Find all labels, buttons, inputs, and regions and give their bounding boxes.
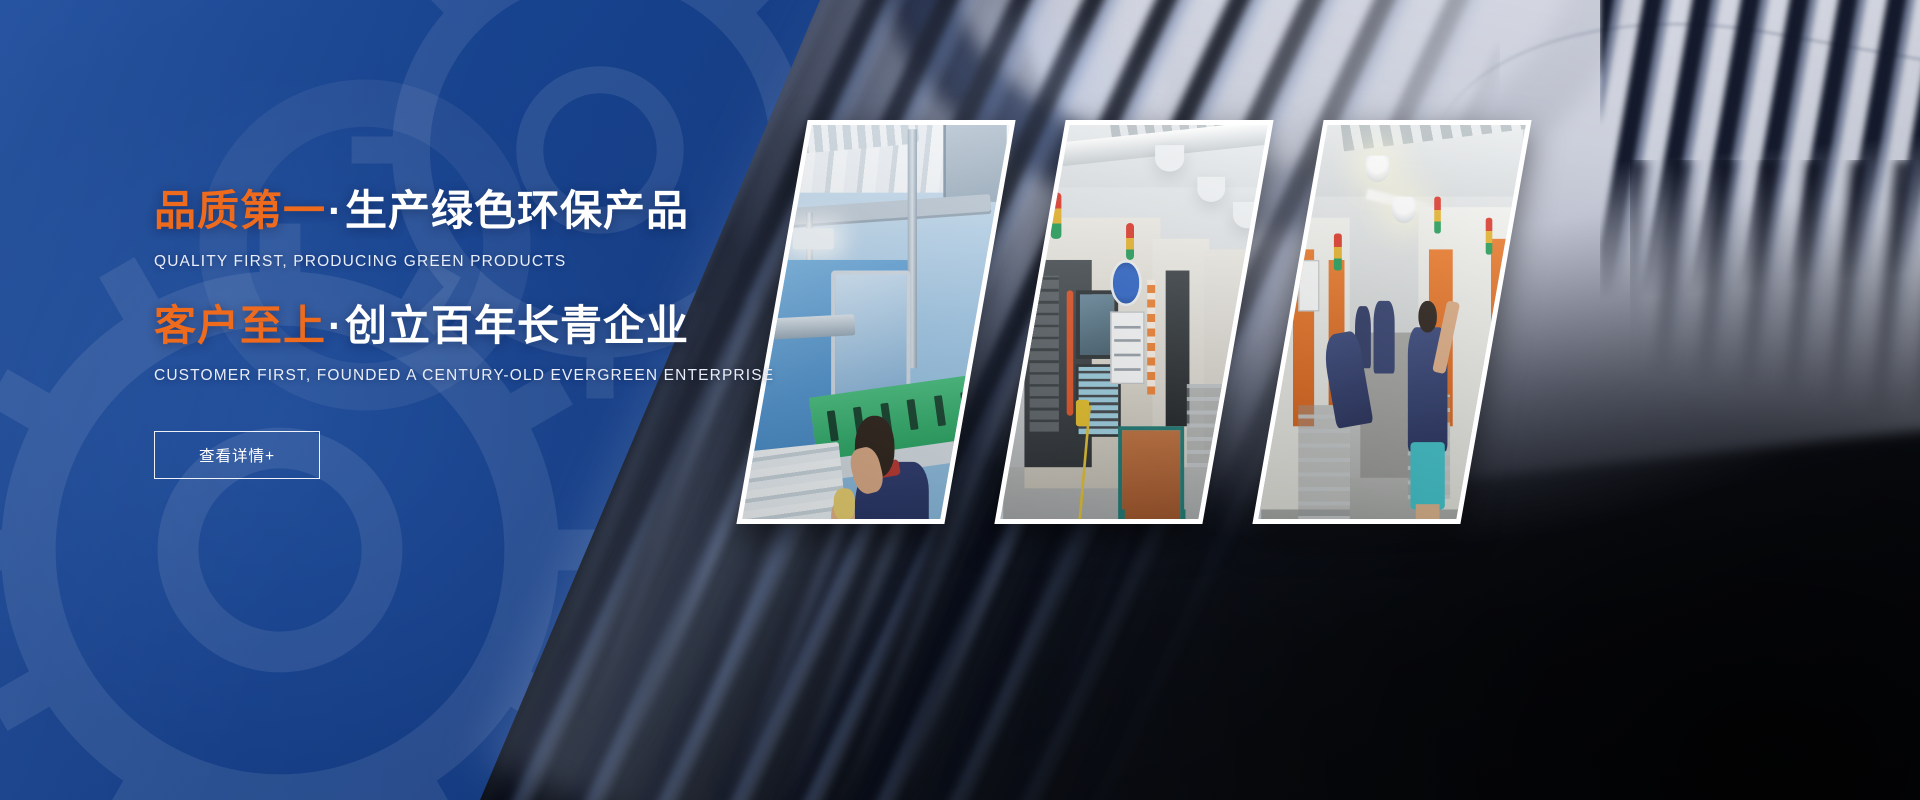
photo-panel-cnc-row[interactable]: [994, 120, 1273, 524]
photo-frame: [1258, 125, 1525, 519]
copy-spacer: [154, 271, 794, 301]
photo-frame: [1000, 125, 1267, 519]
headline-secondary-rest: 创立百年长青企业: [345, 302, 689, 349]
photo-panel-workshop-aisle[interactable]: [1252, 120, 1531, 524]
subtitle-secondary: CUSTOMER FIRST, FOUNDED A CENTURY-OLD EV…: [154, 367, 794, 385]
hero-copy: 品质第一·生产绿色环保产品 QUALITY FIRST, PRODUCING G…: [154, 186, 794, 479]
subtitle-primary: QUALITY FIRST, PRODUCING GREEN PRODUCTS: [154, 253, 794, 271]
headline-primary-separator: ·: [326, 187, 345, 234]
photo-cnc-machine-row: [1003, 125, 1264, 519]
view-details-button[interactable]: 查看详情+: [154, 431, 320, 479]
headline-secondary: 客户至上·创立百年长青企业: [154, 301, 794, 351]
headline-secondary-separator: ·: [326, 302, 345, 349]
headline-secondary-highlight: 客户至上: [154, 302, 326, 349]
hero-banner: 品质第一·生产绿色环保产品 QUALITY FIRST, PRODUCING G…: [0, 0, 1920, 800]
headline-primary-highlight: 品质第一: [154, 187, 326, 234]
photo-workshop-aisle-workers: [1261, 125, 1522, 519]
headline-primary-rest: 生产绿色环保产品: [345, 187, 689, 234]
headline-primary: 品质第一·生产绿色环保产品: [154, 186, 794, 236]
